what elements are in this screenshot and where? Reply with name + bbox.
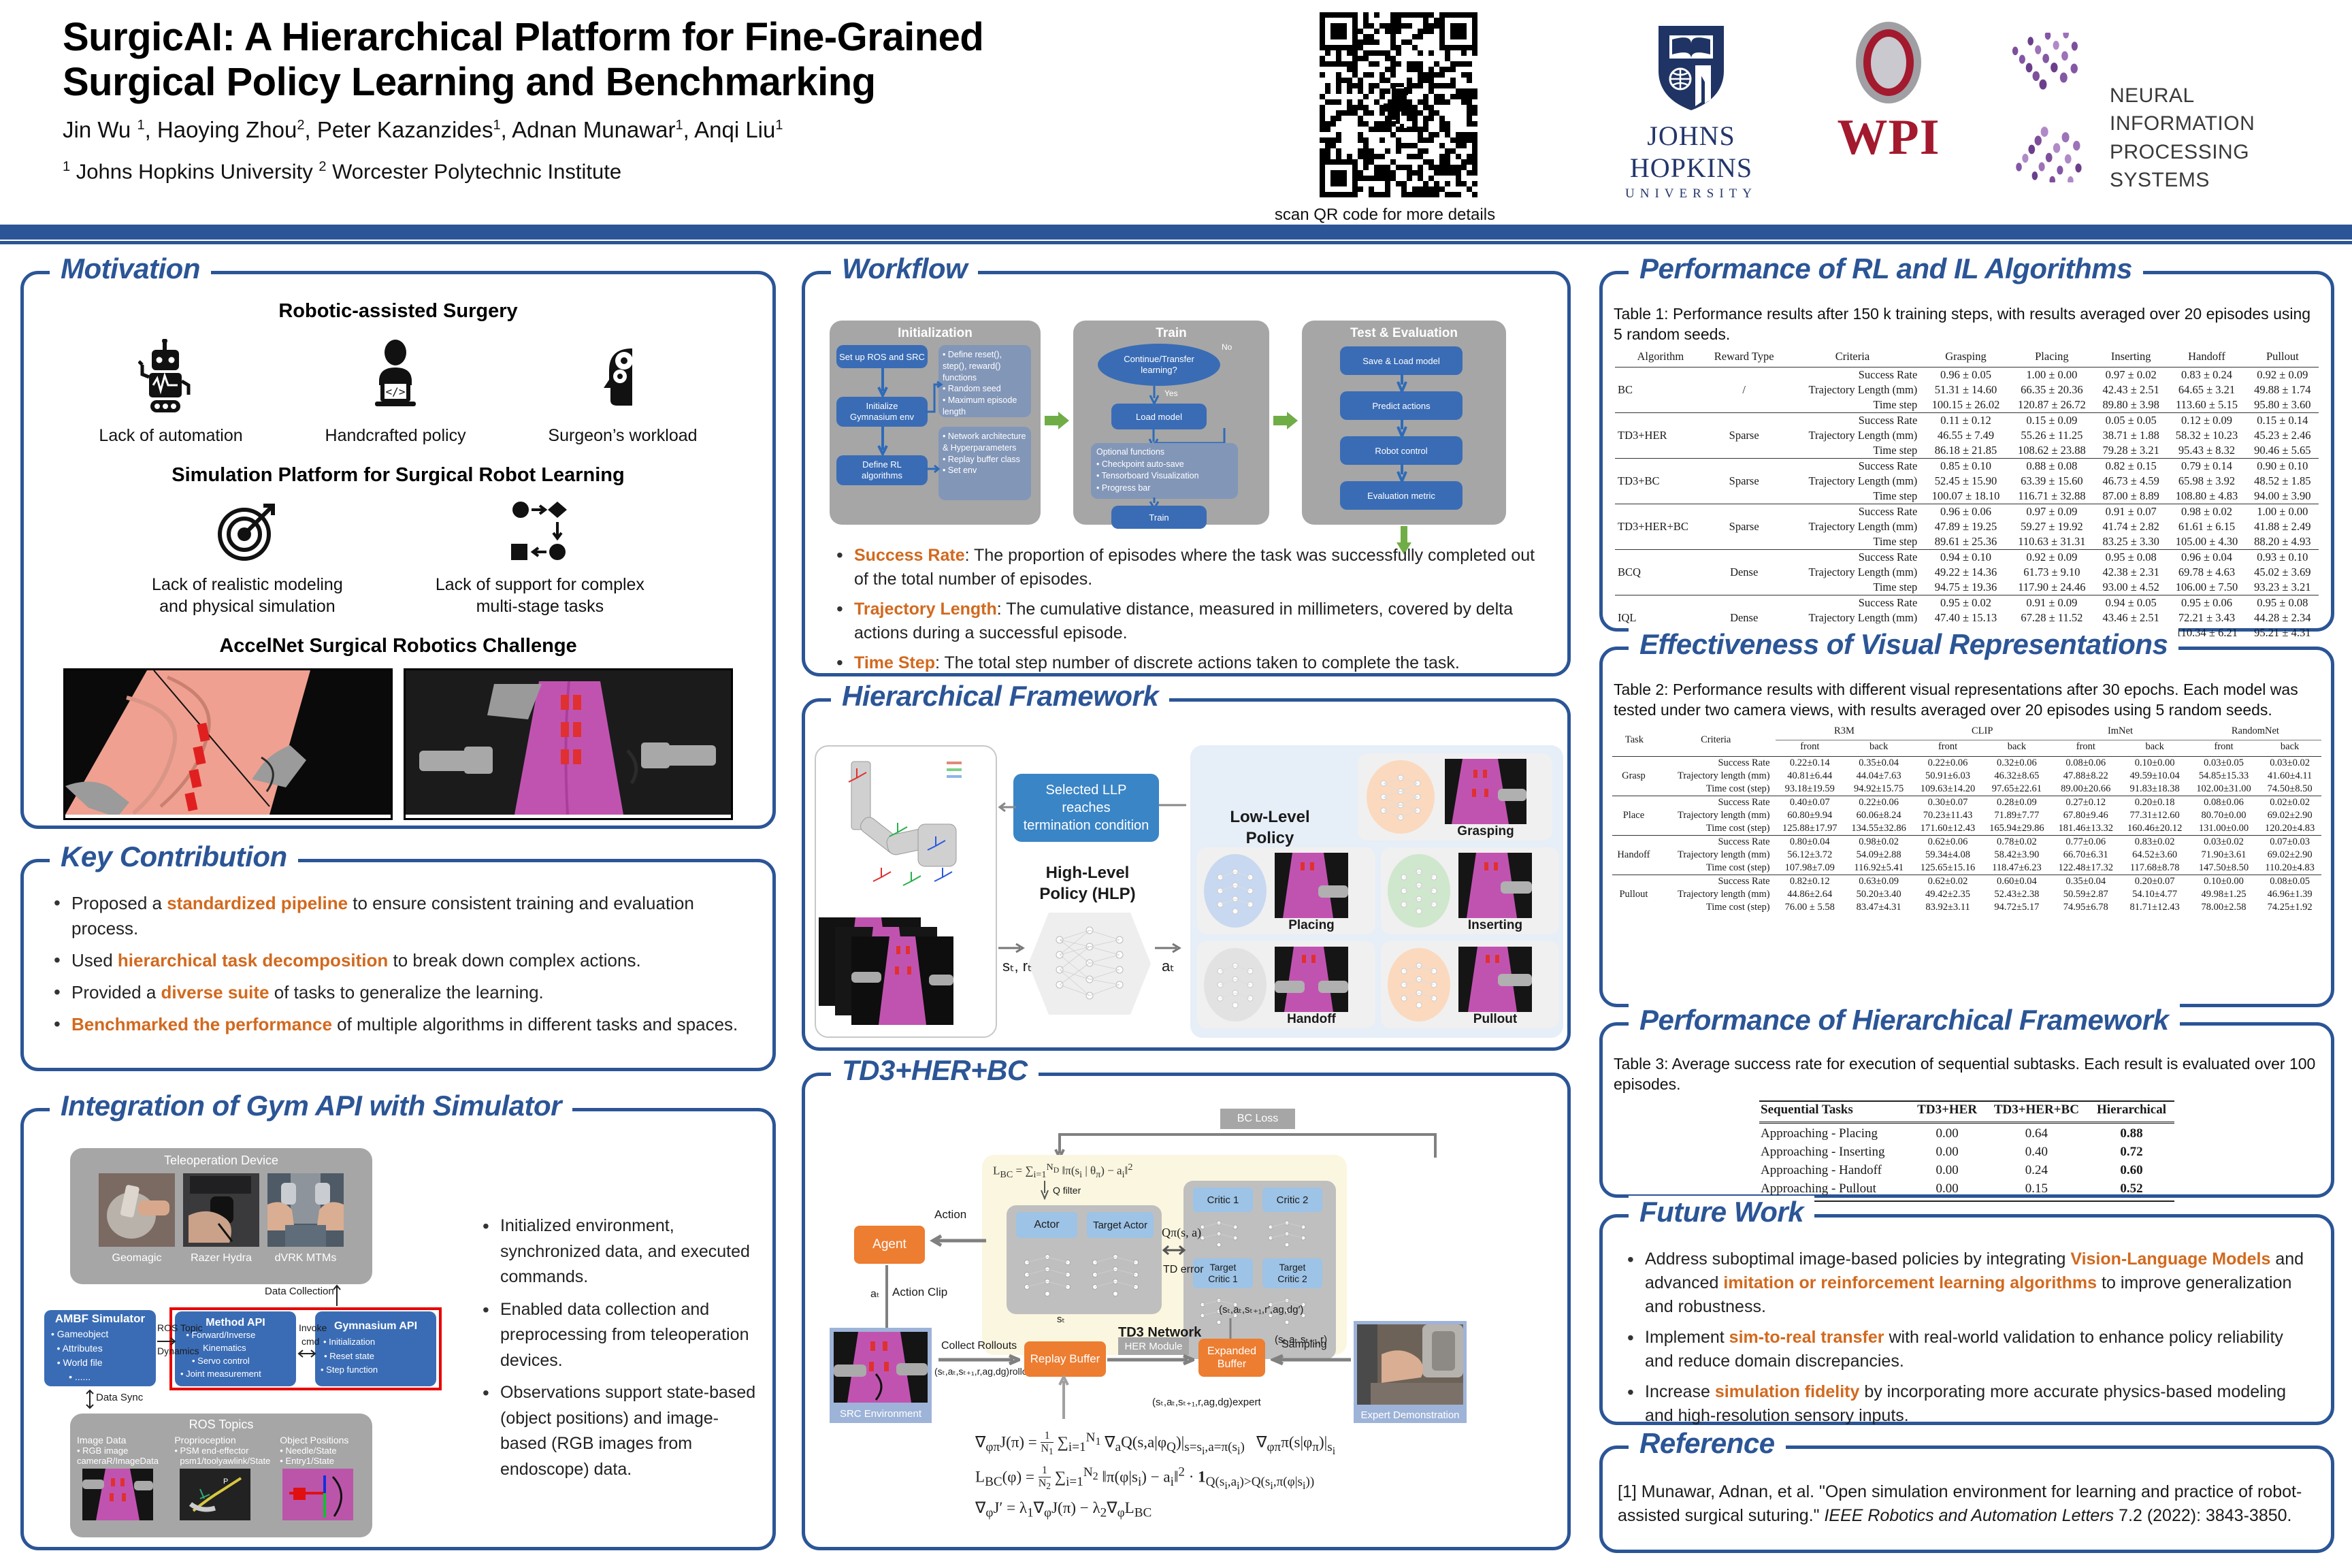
llp-card-placing[interactable]: Placing — [1197, 847, 1375, 934]
table2-model-header: CLIP — [1913, 725, 2051, 740]
td3-src-env-card: SRC Environment — [830, 1328, 932, 1423]
panel-key-contribution: Key Contribution Proposed a standardized… — [20, 859, 776, 1071]
qr-caption: scan QR code for more details — [1269, 206, 1501, 225]
stage-title: Initialization — [830, 321, 1041, 341]
network-icon — [1363, 757, 1438, 836]
wf-box-setup-ros: Set up ROS and SRC — [836, 345, 928, 368]
future-work-list: Address suboptimal image-based policies … — [1603, 1247, 2331, 1428]
arrow-left-icon — [926, 1234, 987, 1247]
key-contribution-item: Benchmarked the performance of multiple … — [44, 1012, 752, 1037]
td3-target-actor-box: Target Actor — [1087, 1212, 1154, 1238]
llp-card-inserting[interactable]: Inserting — [1381, 847, 1559, 934]
td3-collect-rollouts-label: Collect Rollouts — [941, 1340, 1017, 1352]
jhu-subtitle: UNIVERSITY — [1592, 186, 1790, 201]
motivation-item-multistage: Lack of support for complexmulti-stage t… — [436, 499, 644, 617]
wf-decision-continue: Continue/Transferlearning? — [1098, 344, 1220, 386]
observation-stack-image — [816, 904, 996, 1033]
td3-agent-box: Agent — [854, 1226, 925, 1264]
wf-box-load-model: Load model — [1111, 404, 1207, 429]
arrow-ros-icon — [157, 1337, 176, 1345]
motivation-label-multistage: Lack of support for complexmulti-stage t… — [436, 574, 644, 617]
gym-api-bullet: Initialized environment, synchronized da… — [473, 1213, 759, 1290]
td3-her-tuple-label: (sₜ,aₜ,sₜ₊₁,r′,ag,dg′) — [1219, 1303, 1303, 1316]
panel-td3: TD3+HER+BC BC Loss LBC = ∑i=1ND ‖π(si | … — [802, 1073, 1571, 1550]
robot-icon — [138, 339, 203, 415]
future-work-item: Increase simulation fidelity by incorpor… — [1618, 1380, 2316, 1428]
svg-text:</>: </> — [386, 385, 406, 398]
motivation-label-policy: Handcrafted policy — [325, 425, 466, 446]
sim-image-tissue — [63, 668, 393, 820]
hier-perf-title: Performance of Hierarchical Framework — [1629, 1004, 2180, 1036]
hf-state-input-label: sₜ, rₜ — [1002, 958, 1032, 975]
arrow-down-icon — [876, 368, 889, 398]
target-dart-icon — [214, 499, 280, 564]
td3-bc-loss-equation: LBC = ∑i=1ND ‖π(si | θπ) − ai‖2 — [993, 1162, 1132, 1181]
table-row: Time cost (step)93.18±19.5994.92±15.7510… — [1612, 783, 2321, 796]
table1-header: Grasping — [1923, 349, 2008, 367]
task-thumb-handoff — [1275, 947, 1348, 1012]
panel-future-work: Future Work Address suboptimal image-bas… — [1599, 1214, 2334, 1425]
sim-image-suture — [404, 668, 733, 820]
table-row: TD3+HERSparseTrajectory Length (mm)46.55… — [1615, 428, 2319, 443]
hf-robot-card — [815, 745, 997, 1038]
multi-stage-flow-icon — [507, 499, 572, 564]
workflow-metric: Trajectory Length: The cumulative distan… — [827, 598, 1548, 644]
neurips-line-2: PROCESSING SYSTEMS — [2110, 138, 2321, 195]
arrow-down-icon — [1396, 463, 1408, 483]
table-row: Approaching - Placing0.000.640.88 — [1759, 1122, 2174, 1142]
wpi-seal-icon — [1856, 22, 1921, 103]
ambf-title: AMBF Simulator — [51, 1312, 149, 1326]
td3-src-env-label: SRC Environment — [834, 1408, 928, 1420]
qr-code-icon[interactable] — [1320, 12, 1477, 197]
key-contribution-item: Used hierarchical task decomposition to … — [44, 948, 752, 973]
llp-label-inserting: Inserting — [1458, 918, 1532, 933]
gymnasium-api-items: • Initialization • Reset state • Step fu… — [321, 1335, 378, 1377]
ros-topics-group: ROS Topics Image Data • RGB image camera… — [70, 1414, 372, 1537]
table1-caption: Table 1: Performance results after 150 k… — [1614, 304, 2320, 345]
teleop-label: Geomagic — [99, 1252, 175, 1264]
td3-title: TD3+HER+BC — [831, 1054, 1039, 1087]
workflow-stage-train: Train Continue/Transferlearning? No Yes … — [1073, 321, 1269, 525]
table-row: Time step100.15 ± 26.02120.87 ± 26.7289.… — [1615, 397, 2319, 413]
wf-box-eval-metric: Evaluation metric — [1340, 481, 1463, 510]
gym-api-bullets: Initialized environment, synchronized da… — [473, 1213, 759, 1489]
table2-model-header: ImNet — [2051, 725, 2189, 740]
ros-group-objects: Object Positions • Needle/State • Entry1… — [280, 1435, 365, 1524]
llp-label-pullout: Pullout — [1458, 1012, 1532, 1027]
task-thumb-grasping — [1445, 759, 1526, 824]
table2-view-header: back — [1844, 740, 1913, 756]
network-icon — [1385, 945, 1453, 1024]
jhu-wordmark: JOHNS HOPKINS — [1592, 120, 1790, 184]
td3-actor-group: Actor Target Actor — [1007, 1205, 1162, 1314]
edge-invoke-cmd: cmd — [301, 1336, 319, 1347]
workflow-stage-test: Test & Evaluation Save & Load model Pred… — [1302, 321, 1506, 525]
motivation-label-automation: Lack of automation — [99, 425, 242, 446]
wf-box-define-rl: Define RLalgorithms — [836, 455, 928, 485]
motivation-subhead-3: AccelNet Surgical Robotics Challenge — [24, 635, 772, 657]
workflow-metric: Time Step: The total step number of disc… — [827, 651, 1548, 675]
td3-equations: ∇φπJ(π) = 1N1 ∑i=1N1 ∇aQ(s,a|φQ)|s=si,a=… — [975, 1430, 1438, 1520]
motivation-icon-row-2: Lack of realistic modelingand physical s… — [24, 499, 772, 617]
table-row: Time step100.07 ± 18.10116.71 ± 32.8887.… — [1615, 489, 2319, 504]
table-row: Approaching - Handoff0.000.240.60 — [1759, 1160, 2174, 1179]
table-row: Success Rate0.80±0.040.98±0.020.62±0.060… — [1612, 835, 2321, 849]
svg-text:P: P — [223, 1477, 228, 1486]
table-row: Time step89.61 ± 25.36110.63 ± 31.3183.2… — [1615, 534, 2319, 550]
task-thumb-pullout — [1458, 947, 1532, 1012]
motivation-icon-row-1: Lack of automation </> Handcrafted polic… — [24, 339, 772, 446]
rl-il-title: Performance of RL and IL Algorithms — [1629, 252, 2143, 285]
arrow-bidirectional-icon — [1162, 1243, 1186, 1257]
qr-block: scan QR code for more details — [1296, 12, 1501, 225]
table1-header: Inserting — [2095, 349, 2167, 367]
arrow-down-icon — [1039, 1181, 1050, 1200]
arrow-invoke-icon — [297, 1350, 316, 1358]
td3-network-area: LBC = ∑i=1ND ‖π(si | θπ) − ai‖2 Q filter… — [982, 1155, 1347, 1355]
wf-box-save-load: Save & Load model — [1340, 346, 1463, 375]
td3-replay-buffer-box: Replay Buffer — [1024, 1341, 1106, 1377]
table-row: Approaching - Inserting0.000.400.72 — [1759, 1142, 2174, 1160]
arrow-green-right-icon — [1273, 410, 1299, 431]
table-row: Time cost (step)76.00 ± 5.5883.47±4.3183… — [1612, 901, 2321, 914]
critic-networks-icon — [1194, 1215, 1324, 1254]
llp-label-handoff: Handoff — [1275, 1012, 1348, 1027]
arrow-branch-icon — [925, 380, 943, 417]
table-row: Success Rate0.11 ± 0.120.15 ± 0.090.05 ±… — [1615, 412, 2319, 428]
motivation-item-automation: Lack of automation — [99, 339, 242, 446]
td3-at-label: aₜ — [870, 1287, 880, 1301]
table-row: TD3+HER+BCSparseTrajectory Length (mm)47… — [1615, 519, 2319, 534]
table-row: Time step94.75 ± 19.36117.90 ± 24.4693.0… — [1615, 580, 2319, 595]
table-row: HandoffTrajectory length (mm)56.12±3.725… — [1612, 849, 2321, 862]
jhu-shield-icon — [1653, 23, 1729, 110]
llp-card-grasping[interactable]: Grasping — [1358, 753, 1552, 840]
head-gears-icon — [590, 339, 655, 415]
actor-networks-icon — [1017, 1242, 1154, 1307]
teleop-label: Razer Hydra — [183, 1252, 259, 1264]
teleop-group: Teleoperation Device Geomagic Razer Hydr… — [70, 1148, 372, 1284]
neurips-dots-icon — [1980, 33, 2110, 182]
motivation-subhead-2: Simulation Platform for Surgical Robot L… — [24, 464, 772, 487]
logo-strip: JOHNS HOPKINS UNIVERSITY WPI NEURAL INFO… — [1565, 14, 2334, 197]
gym-api-diagram: Teleoperation Device Geomagic Razer Hydr… — [40, 1144, 462, 1539]
workflow-stage-initialization: Initialization Set up ROS and SRC Initia… — [830, 321, 1041, 525]
ros-group-image: Image Data • RGB image cameraR/ImageData — [77, 1435, 170, 1524]
table-row: Success Rate0.40±0.070.22±0.060.30±0.070… — [1612, 796, 2321, 809]
td3-actor-box: Actor — [1016, 1212, 1077, 1238]
visual-rep-title: Effectiveness of Visual Representations — [1629, 628, 2178, 661]
table2-view-header: front — [1776, 740, 1844, 756]
teleop-group-title: Teleoperation Device — [70, 1148, 372, 1168]
page-title: SurgicAI: A Hierarchical Platform for Fi… — [63, 15, 1301, 105]
wpi-logo: WPI — [1810, 22, 1967, 167]
future-work-title: Future Work — [1629, 1196, 1814, 1228]
td3-buffers-row: SRC Environment Collect Rollouts (sₜ,aₜ,… — [805, 1336, 1567, 1431]
expert-feedback-edge-icon — [1023, 1375, 1404, 1419]
ros-topics-title: ROS Topics — [70, 1414, 372, 1432]
workflow-metrics-list: Success Rate: The proportion of episodes… — [827, 544, 1548, 682]
table2-caption: Table 2: Performance results with differ… — [1614, 680, 2320, 721]
title-line-2: Surgical Policy Learning and Benchmarkin… — [63, 60, 1301, 105]
table-row: GraspTrajectory length (mm)40.81±6.4444.… — [1612, 770, 2321, 783]
table1-header: Handoff — [2167, 349, 2246, 367]
future-work-item: Implement sim-to-real transfer with real… — [1618, 1326, 2316, 1373]
panel-reference: Reference [1] Munawar, Adnan, et al. "Op… — [1599, 1445, 2334, 1553]
gym-api-bullet: Observations support state-based (object… — [473, 1380, 759, 1482]
edge-invoke: Invoke — [299, 1322, 327, 1333]
wpi-wordmark: WPI — [1810, 109, 1967, 167]
td3-critic2-box: Critic 2 — [1262, 1188, 1322, 1212]
td3-action-label: Action — [934, 1208, 966, 1222]
arrow-right-icon — [1107, 1354, 1194, 1366]
src-env-thumb — [834, 1332, 928, 1403]
table-row: Time cost (step)125.88±17.97134.55±32.86… — [1612, 822, 2321, 836]
td3-critic-group: Critic 1 Critic 2 TargetCritic 1 TargetC… — [1183, 1181, 1336, 1359]
task-thumb-inserting — [1458, 853, 1532, 918]
table1-header: Reward Type — [1706, 349, 1782, 367]
hf-llp-panel: Low-Level Policy(LLP) Grasping Placing I… — [1190, 745, 1563, 1038]
arrow-right-icon — [1155, 941, 1182, 955]
hf-action-output-label: aₜ — [1162, 958, 1175, 975]
table3-header: Sequential Tasks — [1759, 1101, 1910, 1123]
arrow-down-icon — [876, 427, 889, 457]
header-divider — [0, 225, 2352, 240]
wf-box-optional: Optional functions • Checkpoint auto-sav… — [1091, 443, 1238, 499]
edge-dynamics: Dynamics — [157, 1345, 199, 1356]
header-divider-thin — [0, 241, 2352, 244]
reference-title: Reference — [1629, 1427, 1786, 1460]
hier-framework-title: Hierarchical Framework — [831, 680, 1169, 713]
llp-card-pullout[interactable]: Pullout — [1381, 941, 1559, 1028]
td3-bc-loss-box: BC Loss — [1220, 1109, 1295, 1129]
table-row: IQLDenseTrajectory Length (mm)47.40 ± 15… — [1615, 610, 2319, 625]
key-contribution-title: Key Contribution — [50, 840, 298, 873]
table-row: Success Rate0.82±0.120.63±0.090.62±0.020… — [1612, 875, 2321, 888]
teleop-device-dvrk: dVRK MTMs — [267, 1173, 344, 1264]
arrow-data-sync-icon — [85, 1389, 95, 1409]
line-connector-icon — [1159, 802, 1186, 808]
future-work-item: Address suboptimal image-based policies … — [1618, 1247, 2316, 1319]
wf-box-init-details: • Define reset(), step(), reward() funct… — [938, 345, 1031, 417]
table1-header: Pullout — [2247, 349, 2319, 367]
table-row: Success Rate0.22±0.140.35±0.040.22±0.060… — [1612, 756, 2321, 770]
table-row: Time cost (step)107.98±7.09116.92±5.4112… — [1612, 862, 2321, 875]
motivation-item-policy: </> Handcrafted policy — [325, 339, 466, 446]
stage-title: Test & Evaluation — [1302, 321, 1506, 341]
arrow-down-icon — [1396, 419, 1408, 438]
td3-q-function-label: Qπ(s, a) — [1162, 1226, 1201, 1240]
arrow-left-icon — [997, 801, 1017, 813]
wf-box-rl-details: • Network architecture & Hyperparameters… — [938, 427, 1031, 500]
panel-motivation: Motivation Robotic-assisted Surgery Lack… — [20, 271, 776, 829]
table1-header: Criteria — [1782, 349, 1923, 367]
td3-her-module-box: HER Module — [1118, 1337, 1189, 1355]
motivation-label-workload: Surgeon’s workload — [548, 425, 697, 446]
wf-box-predict: Predict actions — [1340, 391, 1463, 420]
hf-termination-box: Selected LLP reachestermination conditio… — [1013, 774, 1159, 842]
key-contribution-item: Proposed a standardized pipeline to ensu… — [44, 891, 752, 941]
table-row: PlaceTrajectory length (mm)60.80±9.9460.… — [1612, 809, 2321, 822]
table-row: Success Rate0.95 ± 0.020.91 ± 0.090.94 ±… — [1615, 595, 2319, 610]
stage-title: Train — [1073, 321, 1269, 341]
table-row: Time step86.18 ± 21.85108.62 ± 23.8879.2… — [1615, 443, 2319, 459]
motivation-item-workload: Surgeon’s workload — [548, 339, 697, 446]
llp-label-grasping: Grasping — [1445, 824, 1526, 839]
td3-q-filter-label: Q filter — [1053, 1185, 1081, 1196]
network-icon — [1201, 945, 1269, 1024]
table3-caption: Table 3: Average success rate for execut… — [1614, 1054, 2320, 1095]
motivation-label-modeling: Lack of realistic modelingand physical s… — [152, 574, 343, 617]
hlp-network-icon — [1022, 906, 1158, 1022]
arrow-down-icon — [1148, 386, 1160, 405]
network-icon — [1385, 851, 1453, 930]
ambf-simulator-box: AMBF Simulator • Gameobject • Attributes… — [44, 1310, 156, 1386]
table1-header: Placing — [2009, 349, 2095, 367]
td3-td-error-label: TD error — [1163, 1264, 1204, 1276]
title-line-1: SurgicAI: A Hierarchical Platform for Fi… — [63, 15, 1301, 60]
table-row: PulloutTrajectory length (mm)44.86±2.645… — [1612, 888, 2321, 901]
wf-box-robot-control: Robot control — [1340, 436, 1463, 465]
table-row: TD3+BCSparseTrajectory Length (mm)52.45 … — [1615, 474, 2319, 489]
network-icon — [1201, 851, 1269, 930]
wf-box-train: Train — [1111, 506, 1207, 529]
table2-model-header: R3M — [1776, 725, 1914, 740]
td3-sampling-label: Sampling — [1281, 1339, 1327, 1351]
panel-gym-api: Integration of Gym API with Simulator Te… — [20, 1108, 776, 1550]
gymnasium-api-box: Gymnasium API • Initialization • Reset s… — [315, 1311, 436, 1386]
poster-header: SurgicAI: A Hierarchical Platform for Fi… — [0, 0, 2352, 231]
table-row: Success Rate0.85 ± 0.100.88 ± 0.080.82 ±… — [1615, 458, 2319, 474]
key-contribution-list: Proposed a standardized pipeline to ensu… — [24, 891, 772, 1037]
motivation-item-modeling: Lack of realistic modelingand physical s… — [152, 499, 343, 617]
edge-data-collection: Data Collection — [265, 1286, 334, 1297]
developer-policy-icon: </> — [363, 339, 428, 415]
arrow-left-icon — [1271, 1354, 1352, 1366]
td3-expanded-buffer-box: ExpandedBuffer — [1198, 1339, 1265, 1377]
gymnasium-api-title: Gymnasium API — [321, 1320, 431, 1333]
wf-label-yes: Yes — [1164, 389, 1178, 398]
panel-hier-perf: Performance of Hierarchical Framework Ta… — [1599, 1022, 2334, 1198]
panel-rl-il: Performance of RL and IL Algorithms Tabl… — [1599, 271, 2334, 632]
table2-view-header: front — [1913, 740, 1982, 756]
td3-equation-2: LBC(φ) = 1N2 ∑i=1N2 ‖π(φ|si) − ai‖2 · 1Q… — [975, 1465, 1438, 1492]
table-row: Approaching - Pullout0.000.150.52 — [1759, 1179, 2174, 1201]
table2-model-header: RandomNet — [2189, 725, 2321, 740]
td3-state-label: sₜ — [1057, 1313, 1065, 1325]
teleop-device-geomagic: Geomagic — [99, 1173, 175, 1264]
table1-header: Algorithm — [1615, 349, 1706, 367]
teleop-device-razer: Razer Hydra — [183, 1173, 259, 1264]
line-connector-icon — [1226, 1318, 1235, 1339]
table2-view-header: front — [2051, 740, 2120, 756]
author-list: Jin Wu 1, Haoying Zhou2, Peter Kazanzide… — [63, 117, 1301, 143]
table-row: BCQDenseTrajectory Length (mm)49.22 ± 14… — [1615, 565, 2319, 580]
table-row: Success Rate0.96 ± 0.051.00 ± 0.000.97 ±… — [1615, 367, 2319, 382]
table-row: Success Rate0.94 ± 0.100.92 ± 0.090.95 ±… — [1615, 549, 2319, 565]
arrow-right-icon — [998, 941, 1026, 955]
affiliation-list: 1 Johns Hopkins University 2 Worcester P… — [63, 159, 1301, 184]
ros-group-proprio: Proprioception • PSM end-effector psm1/t… — [174, 1435, 276, 1524]
arrow-down-icon — [1396, 374, 1408, 393]
task-thumb-placing — [1275, 853, 1348, 918]
workflow-metric: Success Rate: The proportion of episodes… — [827, 544, 1548, 591]
panel-visual-rep: Effectiveness of Visual Representations … — [1599, 647, 2334, 1007]
table3-header: Hierarchical — [2089, 1101, 2174, 1123]
td3-equation-3: ∇φJ′ = λ1∇φJ(π) − λ2∇φLBC — [975, 1499, 1438, 1521]
arrow-right-icon — [925, 461, 943, 477]
arrow-data-collection-icon — [331, 1284, 342, 1306]
motivation-title: Motivation — [50, 252, 211, 285]
table2-view-header: front — [2189, 740, 2258, 756]
gym-api-bullet: Enabled data collection and preprocessin… — [473, 1297, 759, 1374]
ambf-items: • Gameobject • Attributes • World file •… — [51, 1327, 108, 1384]
td3-target-critic2-box: TargetCritic 2 — [1262, 1258, 1322, 1288]
table2-view-header: back — [1982, 740, 2051, 756]
accelnet-image-row — [24, 668, 772, 820]
reference-entry: [1] Munawar, Adnan, et al. "Open simulat… — [1603, 1480, 2331, 1528]
td3-action-clip-label: Action Clip — [892, 1286, 947, 1299]
arrow-green-right-icon — [1045, 410, 1071, 431]
hf-hlp-label: High-LevelPolicy (HLP) — [1023, 862, 1152, 904]
table3-header: TD3+HER — [1910, 1101, 1984, 1123]
panel-workflow: Workflow Initialization Set up ROS and S… — [802, 271, 1571, 676]
td3-rollout-tuple-label: (sₜ,aₜ,sₜ₊₁,r,ag,dg)rollout — [934, 1366, 1035, 1377]
robot-kinematics-image — [816, 751, 996, 900]
td3-critic1-box: Critic 1 — [1193, 1188, 1253, 1212]
llp-label-placing: Placing — [1275, 918, 1348, 933]
neurips-wordmark: NEURAL INFORMATION PROCESSING SYSTEMS — [2110, 82, 2321, 195]
edge-ros-topic: ROS Topic — [157, 1322, 203, 1333]
wf-label-no: No — [1222, 342, 1232, 352]
edge-data-sync: Data Sync — [96, 1392, 143, 1403]
title-block: SurgicAI: A Hierarchical Platform for Fi… — [63, 15, 1301, 184]
key-contribution-item: Provided a diverse suite of tasks to gen… — [44, 980, 752, 1005]
teleop-label: dVRK MTMs — [267, 1252, 344, 1264]
panel-hierarchical-framework: Hierarchical Framework — [802, 698, 1571, 1051]
arrow-right-icon — [938, 1354, 1020, 1366]
td3-equation-1: ∇φπJ(π) = 1N1 ∑i=1N1 ∇aQ(s,a|φQ)|s=si,a=… — [975, 1430, 1438, 1458]
table-hier-perf: Sequential TasksTD3+HERTD3+HER+BCHierarc… — [1759, 1100, 2174, 1202]
gym-api-title: Integration of Gym API with Simulator — [50, 1090, 572, 1122]
jhu-logo: JOHNS HOPKINS UNIVERSITY — [1592, 23, 1790, 201]
table2-view-header: back — [2120, 740, 2189, 756]
table3-header: TD3+HER+BC — [1984, 1101, 2089, 1123]
wf-box-init-gym: InitializeGymnasium env — [836, 397, 928, 427]
table-visual-rep: TaskCriteriaR3MCLIPImNetRandomNetfrontba… — [1612, 725, 2321, 914]
motivation-subhead-1: Robotic-assisted Surgery — [24, 300, 772, 323]
table-row: Success Rate0.96 ± 0.060.97 ± 0.090.91 ±… — [1615, 504, 2319, 519]
neurips-line-1: NEURAL INFORMATION — [2110, 82, 2321, 138]
table-row: BC/Trajectory Length (mm)51.31 ± 14.6066… — [1615, 382, 2319, 397]
llp-card-handoff[interactable]: Handoff — [1197, 941, 1375, 1028]
table2-view-header: back — [2258, 740, 2321, 756]
workflow-title: Workflow — [831, 252, 978, 285]
table-rl-il: AlgorithmReward TypeCriteriaGraspingPlac… — [1615, 349, 2319, 640]
